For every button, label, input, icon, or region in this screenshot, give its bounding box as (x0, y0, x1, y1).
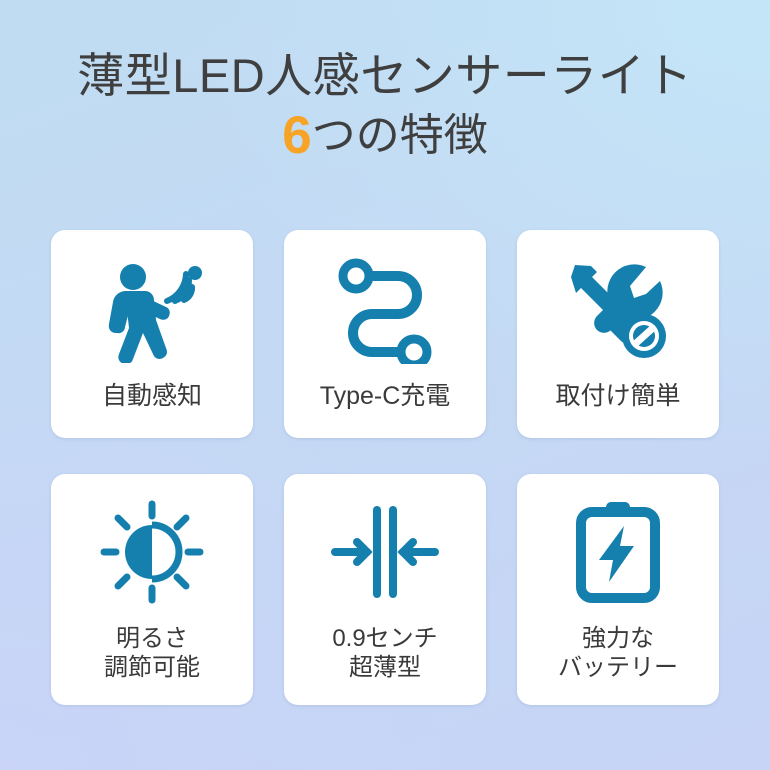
feature-card-label: Type-C充電 (314, 381, 457, 438)
page-title-line1: 薄型LED人感センサーライト (0, 52, 770, 100)
usb-c-cable-icon (284, 230, 486, 381)
battery-bolt-icon (517, 474, 719, 624)
feature-card-label: 自動感知 (96, 381, 208, 438)
feature-card-label: 取付け簡単 (549, 381, 686, 438)
page-title: 薄型LED人感センサーライト 6つの特徴 (0, 52, 770, 163)
feature-card-label: 明るさ 調節可能 (98, 624, 206, 706)
feature-card-brightness-adjust[interactable]: 明るさ 調節可能 (51, 474, 253, 705)
walking-person-motion-sensor-icon (51, 230, 253, 381)
page-title-line2: 6つの特徴 (0, 109, 770, 163)
page-title-line2-rest: つの特徴 (312, 111, 488, 160)
feature-card-strong-battery[interactable]: 強力な バッテリー (517, 474, 719, 705)
feature-card-label: 強力な バッテリー (552, 624, 684, 706)
feature-card-label: 0.9センチ 超薄型 (326, 624, 443, 706)
feature-card-auto-detect[interactable]: 自動感知 (51, 230, 253, 438)
thinness-arrows-icon (284, 474, 486, 624)
feature-card-easy-install[interactable]: 取付け簡単 (517, 230, 719, 438)
poster-canvas: 薄型LED人感センサーライト 6つの特徴 (0, 0, 770, 770)
feature-grid: 自動感知 Type-C充電 (51, 230, 719, 705)
brightness-half-sun-icon (51, 474, 253, 624)
feature-card-ultra-thin[interactable]: 0.9センチ 超薄型 (284, 474, 486, 705)
feature-count-number: 6 (282, 106, 311, 165)
wrench-screwdriver-no-tools-icon (517, 230, 719, 381)
feature-card-type-c-charging[interactable]: Type-C充電 (284, 230, 486, 438)
